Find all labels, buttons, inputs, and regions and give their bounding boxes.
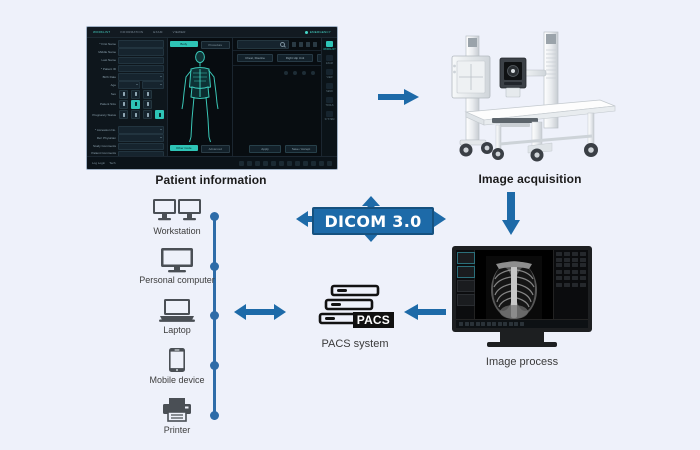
procedure-tab-button[interactable]: Procedure <box>201 41 231 49</box>
anatomy-body-diagram[interactable] <box>170 49 230 145</box>
tray-icon-9[interactable] <box>303 161 308 166</box>
pacs-caption: PACS system <box>300 338 410 350</box>
rail-label: VIEW <box>326 76 332 79</box>
dicom-badge-box: DICOM 3.0 <box>312 207 434 235</box>
right-icon-rail[interactable]: WORKLIST EXAM VIEW SEND TOOLS <box>321 38 337 156</box>
device-label: Mobile device <box>126 375 228 385</box>
tool-icon-4[interactable] <box>311 71 315 75</box>
control-button[interactable] <box>572 283 578 287</box>
field-sex[interactable]: Sex <box>90 90 164 98</box>
toolbar-icon[interactable] <box>492 322 496 326</box>
rail-item-worklist[interactable]: WORKLIST <box>325 41 334 51</box>
save-accept-button[interactable]: Save / Accept <box>285 145 317 153</box>
status-left-label: Log Login <box>92 161 105 165</box>
control-button[interactable] <box>556 276 562 280</box>
toolbar-icon[interactable] <box>481 322 485 326</box>
control-button[interactable] <box>564 270 570 274</box>
control-button[interactable] <box>564 263 570 267</box>
send-icon <box>326 83 333 89</box>
emergency-label: EMERGENCY <box>310 30 331 34</box>
status-right-label: Tech <box>109 161 115 165</box>
rail-label: EXAM <box>326 62 333 65</box>
control-button[interactable] <box>580 258 586 262</box>
device-label: Personal computer <box>126 275 228 285</box>
image-process-monitor: Image process <box>452 246 592 368</box>
device-item-personal-computer[interactable]: Personal computer <box>126 247 228 285</box>
pregnancy-unknown-icon[interactable] <box>143 110 152 119</box>
rail-item-exam[interactable]: EXAM <box>325 55 334 65</box>
printer-icon <box>126 397 228 423</box>
arrow-patient-to-acquisition <box>378 86 420 108</box>
device-item-mobile-device[interactable]: Mobile device <box>126 347 228 385</box>
device-label: Printer <box>126 425 228 435</box>
patient-id-input[interactable] <box>118 65 164 73</box>
sex-other-icon[interactable] <box>143 90 152 99</box>
tab-viewer[interactable]: VIEWER <box>173 30 186 34</box>
field-ref-physician[interactable]: Ref. Physician <box>90 135 164 141</box>
rail-item-view[interactable]: VIEW <box>325 69 334 79</box>
control-button[interactable] <box>564 283 570 287</box>
rail-item-system[interactable]: SYSTEM <box>325 111 334 121</box>
control-button[interactable] <box>556 252 562 256</box>
field-label: Patient Comments <box>90 151 116 155</box>
field-label: Age <box>90 83 116 87</box>
control-button[interactable] <box>572 276 578 280</box>
control-button[interactable] <box>556 258 562 262</box>
search-strip[interactable] <box>233 38 321 51</box>
console-status-bar[interactable]: Log Login Tech <box>87 156 337 169</box>
worklist-icon <box>326 41 333 47</box>
dicom-badge: DICOM 3.0 <box>296 196 446 242</box>
exam-icon <box>326 55 333 61</box>
anatomy-column[interactable]: Body Procedure <box>168 38 233 156</box>
console-body: * First Name Middle Name Last Name * Pat… <box>87 38 337 156</box>
field-last-name[interactable]: Last Name <box>90 57 164 63</box>
arrow-process-to-pacs <box>404 303 446 321</box>
monitor-screen[interactable] <box>456 250 588 328</box>
tab-exam[interactable]: EXAM <box>153 30 162 34</box>
tab-worklist[interactable]: WORKLIST <box>93 30 110 34</box>
sex-male-icon[interactable] <box>119 90 128 99</box>
toolbar-icon[interactable] <box>465 322 469 326</box>
view-icon <box>326 69 333 75</box>
work-canvas[interactable] <box>233 65 321 142</box>
toolbar-icon[interactable] <box>470 322 474 326</box>
tray-icon-10[interactable] <box>311 161 316 166</box>
field-label: * Patient ID <box>90 67 116 71</box>
minimize-icon[interactable] <box>306 42 310 47</box>
control-button[interactable] <box>580 276 586 280</box>
patient-information-caption: Patient information <box>121 173 301 187</box>
image-process-caption: Image process <box>452 356 592 368</box>
control-button[interactable] <box>572 252 578 256</box>
diagram-canvas: WORKLIST INFORMATION EXAM VIEWER EMERGEN… <box>0 0 700 450</box>
tray-icon-5[interactable] <box>271 161 276 166</box>
control-button[interactable] <box>564 252 570 256</box>
tray-icon-8[interactable] <box>295 161 300 166</box>
device-item-workstation[interactable]: Workstation <box>126 198 228 236</box>
field-accession-no[interactable]: * Accession No. <box>90 127 164 133</box>
toolbar-icon[interactable] <box>459 322 463 326</box>
toolbar-icon[interactable] <box>520 322 524 326</box>
toolbar-icon[interactable] <box>476 322 480 326</box>
toolbar-icon[interactable] <box>498 322 502 326</box>
dual-monitor-icon <box>126 198 228 224</box>
control-button[interactable] <box>580 263 586 267</box>
control-button[interactable] <box>564 276 570 280</box>
monitor-bezel <box>452 246 592 332</box>
accession-no-input[interactable] <box>118 126 164 134</box>
toolbar-icon[interactable] <box>503 322 507 326</box>
tray-icon-4[interactable] <box>263 161 268 166</box>
console-tab-bar[interactable]: WORKLIST INFORMATION EXAM VIEWER EMERGEN… <box>87 27 337 38</box>
field-pregnancy-status[interactable]: Pregnancy Status <box>90 111 164 119</box>
body-tab-button[interactable]: Body <box>170 41 198 47</box>
size-small-icon[interactable] <box>119 100 128 109</box>
gear-icon <box>326 111 333 117</box>
emergency-button[interactable]: EMERGENCY <box>305 30 331 34</box>
control-button[interactable] <box>580 252 586 256</box>
field-label: Birth Date <box>90 75 116 79</box>
status-icon-tray[interactable] <box>239 161 332 166</box>
field-label: Last Name <box>90 58 116 62</box>
tool-icon-3[interactable] <box>302 71 306 75</box>
field-middle-name[interactable]: Middle Name <box>90 49 164 55</box>
size-medium-icon[interactable] <box>131 100 140 109</box>
age-unit-select[interactable] <box>142 81 164 89</box>
size-large-icon[interactable] <box>143 100 152 109</box>
field-label: Ref. Physician <box>90 136 116 140</box>
laptop-icon <box>126 297 228 323</box>
tools-icon <box>326 97 333 103</box>
tray-icon-11[interactable] <box>319 161 324 166</box>
filter-icon[interactable] <box>299 42 303 47</box>
middle-name-input[interactable] <box>118 48 164 56</box>
tray-icon-1[interactable] <box>239 161 244 166</box>
ref-physician-input[interactable] <box>118 134 164 142</box>
user-icon[interactable] <box>292 42 296 47</box>
xray-image-viewport[interactable] <box>475 250 553 328</box>
pacs-server-icon: PACS <box>318 284 392 330</box>
image-acquisition-caption: Image acquisition <box>434 172 626 186</box>
field-study-comments[interactable]: Study Comments <box>90 143 164 149</box>
rail-label: TOOLS <box>325 104 333 107</box>
toolbar-icon[interactable] <box>509 322 513 326</box>
arrow-pacs-to-devices <box>234 302 286 322</box>
last-name-input[interactable] <box>118 57 164 65</box>
device-item-laptop[interactable]: Laptop <box>126 297 228 335</box>
tray-icon-2[interactable] <box>247 161 252 166</box>
anatomy-footer-row[interactable]: Other Code Advanced <box>170 145 230 153</box>
field-birth-date[interactable]: Birth Date <box>90 74 164 80</box>
work-area[interactable]: Chest, Routine Right Hip Unit Left Hip U… <box>233 38 321 156</box>
field-label: Study Comments <box>90 144 116 148</box>
birth-date-input[interactable] <box>118 73 164 81</box>
tray-icon-12[interactable] <box>327 161 332 166</box>
other-code-button[interactable]: Other Code <box>170 145 198 151</box>
field-age[interactable]: Age <box>90 82 164 88</box>
thumbnail-item[interactable] <box>457 294 475 306</box>
device-list: Workstation Personal computer <box>126 198 228 442</box>
rail-label: SEND <box>326 90 333 93</box>
field-patient-id[interactable]: * Patient ID <box>90 66 164 72</box>
device-item-printer[interactable]: Printer <box>126 397 228 435</box>
rail-label: SYSTEM <box>325 118 335 121</box>
control-button[interactable] <box>556 270 562 274</box>
pregnancy-yes-icon[interactable] <box>131 110 140 119</box>
desktop-monitor-icon <box>126 247 228 273</box>
rail-item-tools[interactable]: TOOLS <box>325 97 334 107</box>
procedure-chip-row[interactable]: Chest, Routine Right Hip Unit Left Hip U… <box>233 51 321 65</box>
advanced-button[interactable]: Advanced <box>201 145 231 153</box>
field-label: * Accession No. <box>90 128 116 132</box>
smartphone-icon <box>126 347 228 373</box>
tool-icon-1[interactable] <box>284 71 288 75</box>
tray-icon-6[interactable] <box>279 161 284 166</box>
field-first-name[interactable]: * First Name <box>90 41 164 47</box>
button-grid-2[interactable] <box>556 270 586 280</box>
thumbnail-item[interactable] <box>457 280 475 292</box>
emergency-indicator-icon <box>305 31 308 34</box>
sex-female-icon[interactable] <box>131 90 140 99</box>
control-button-panel[interactable] <box>553 250 588 328</box>
control-button[interactable] <box>572 263 578 267</box>
chip-chest-routine[interactable]: Chest, Routine <box>237 54 273 62</box>
search-input[interactable] <box>237 40 289 49</box>
close-icon[interactable] <box>313 42 317 47</box>
search-icon <box>280 42 285 47</box>
study-comments-input[interactable] <box>118 143 164 151</box>
control-button[interactable] <box>572 270 578 274</box>
chest-xray-image <box>486 256 542 322</box>
tray-icon-3[interactable] <box>255 161 260 166</box>
monitor-base <box>487 342 557 347</box>
device-label: Workstation <box>126 226 228 236</box>
rail-item-send[interactable]: SEND <box>325 83 334 93</box>
dicom-label: DICOM 3.0 <box>324 212 421 231</box>
arrow-acquisition-to-process <box>500 192 522 236</box>
chip-right-hip[interactable]: Right Hip Unit <box>277 54 313 62</box>
control-button[interactable] <box>556 283 562 287</box>
work-footer[interactable]: Apply Save / Accept <box>233 142 321 156</box>
rail-label: WORKLIST <box>323 48 336 51</box>
viewer-toolbar[interactable] <box>456 319 588 328</box>
pacs-system-group: PACS PACS system <box>300 284 410 350</box>
field-patient-size[interactable]: Patient Size <box>90 100 164 108</box>
control-button[interactable] <box>572 258 578 262</box>
field-label: Patient Size <box>90 102 116 106</box>
tab-information[interactable]: INFORMATION <box>120 30 143 34</box>
device-label: Laptop <box>126 325 228 335</box>
apply-button[interactable]: Apply <box>249 145 281 153</box>
pacs-badge-label: PACS <box>353 312 394 328</box>
field-label: * First Name <box>90 42 116 46</box>
button-grid-3[interactable] <box>556 283 586 287</box>
anatomy-tab-row[interactable]: Body Procedure <box>170 41 230 49</box>
monitor-stand <box>500 332 544 342</box>
first-name-input[interactable] <box>118 40 164 48</box>
button-grid-1[interactable] <box>556 252 586 267</box>
control-button[interactable] <box>564 258 570 262</box>
toolbar-icon[interactable] <box>514 322 518 326</box>
field-label: Middle Name <box>90 50 116 54</box>
pregnancy-na-icon[interactable] <box>155 110 164 119</box>
patient-form-column[interactable]: * First Name Middle Name Last Name * Pat… <box>87 38 168 156</box>
control-button[interactable] <box>556 263 562 267</box>
age-select[interactable] <box>118 81 140 89</box>
image-acquisition-illustration <box>440 26 620 166</box>
thumbnail-panel[interactable] <box>456 250 475 328</box>
thumbnail-item[interactable] <box>457 266 475 278</box>
toolbar-icon[interactable] <box>487 322 491 326</box>
tool-icon-2[interactable] <box>293 71 297 75</box>
control-button[interactable] <box>580 283 586 287</box>
pregnancy-no-icon[interactable] <box>119 110 128 119</box>
canvas-tool-icons[interactable] <box>284 71 315 75</box>
patient-information-console[interactable]: WORKLIST INFORMATION EXAM VIEWER EMERGEN… <box>86 26 338 170</box>
thumbnail-item[interactable] <box>457 252 475 264</box>
tray-icon-7[interactable] <box>287 161 292 166</box>
field-label: Pregnancy Status <box>90 113 116 117</box>
field-label: Sex <box>90 92 116 96</box>
control-button[interactable] <box>580 270 586 274</box>
